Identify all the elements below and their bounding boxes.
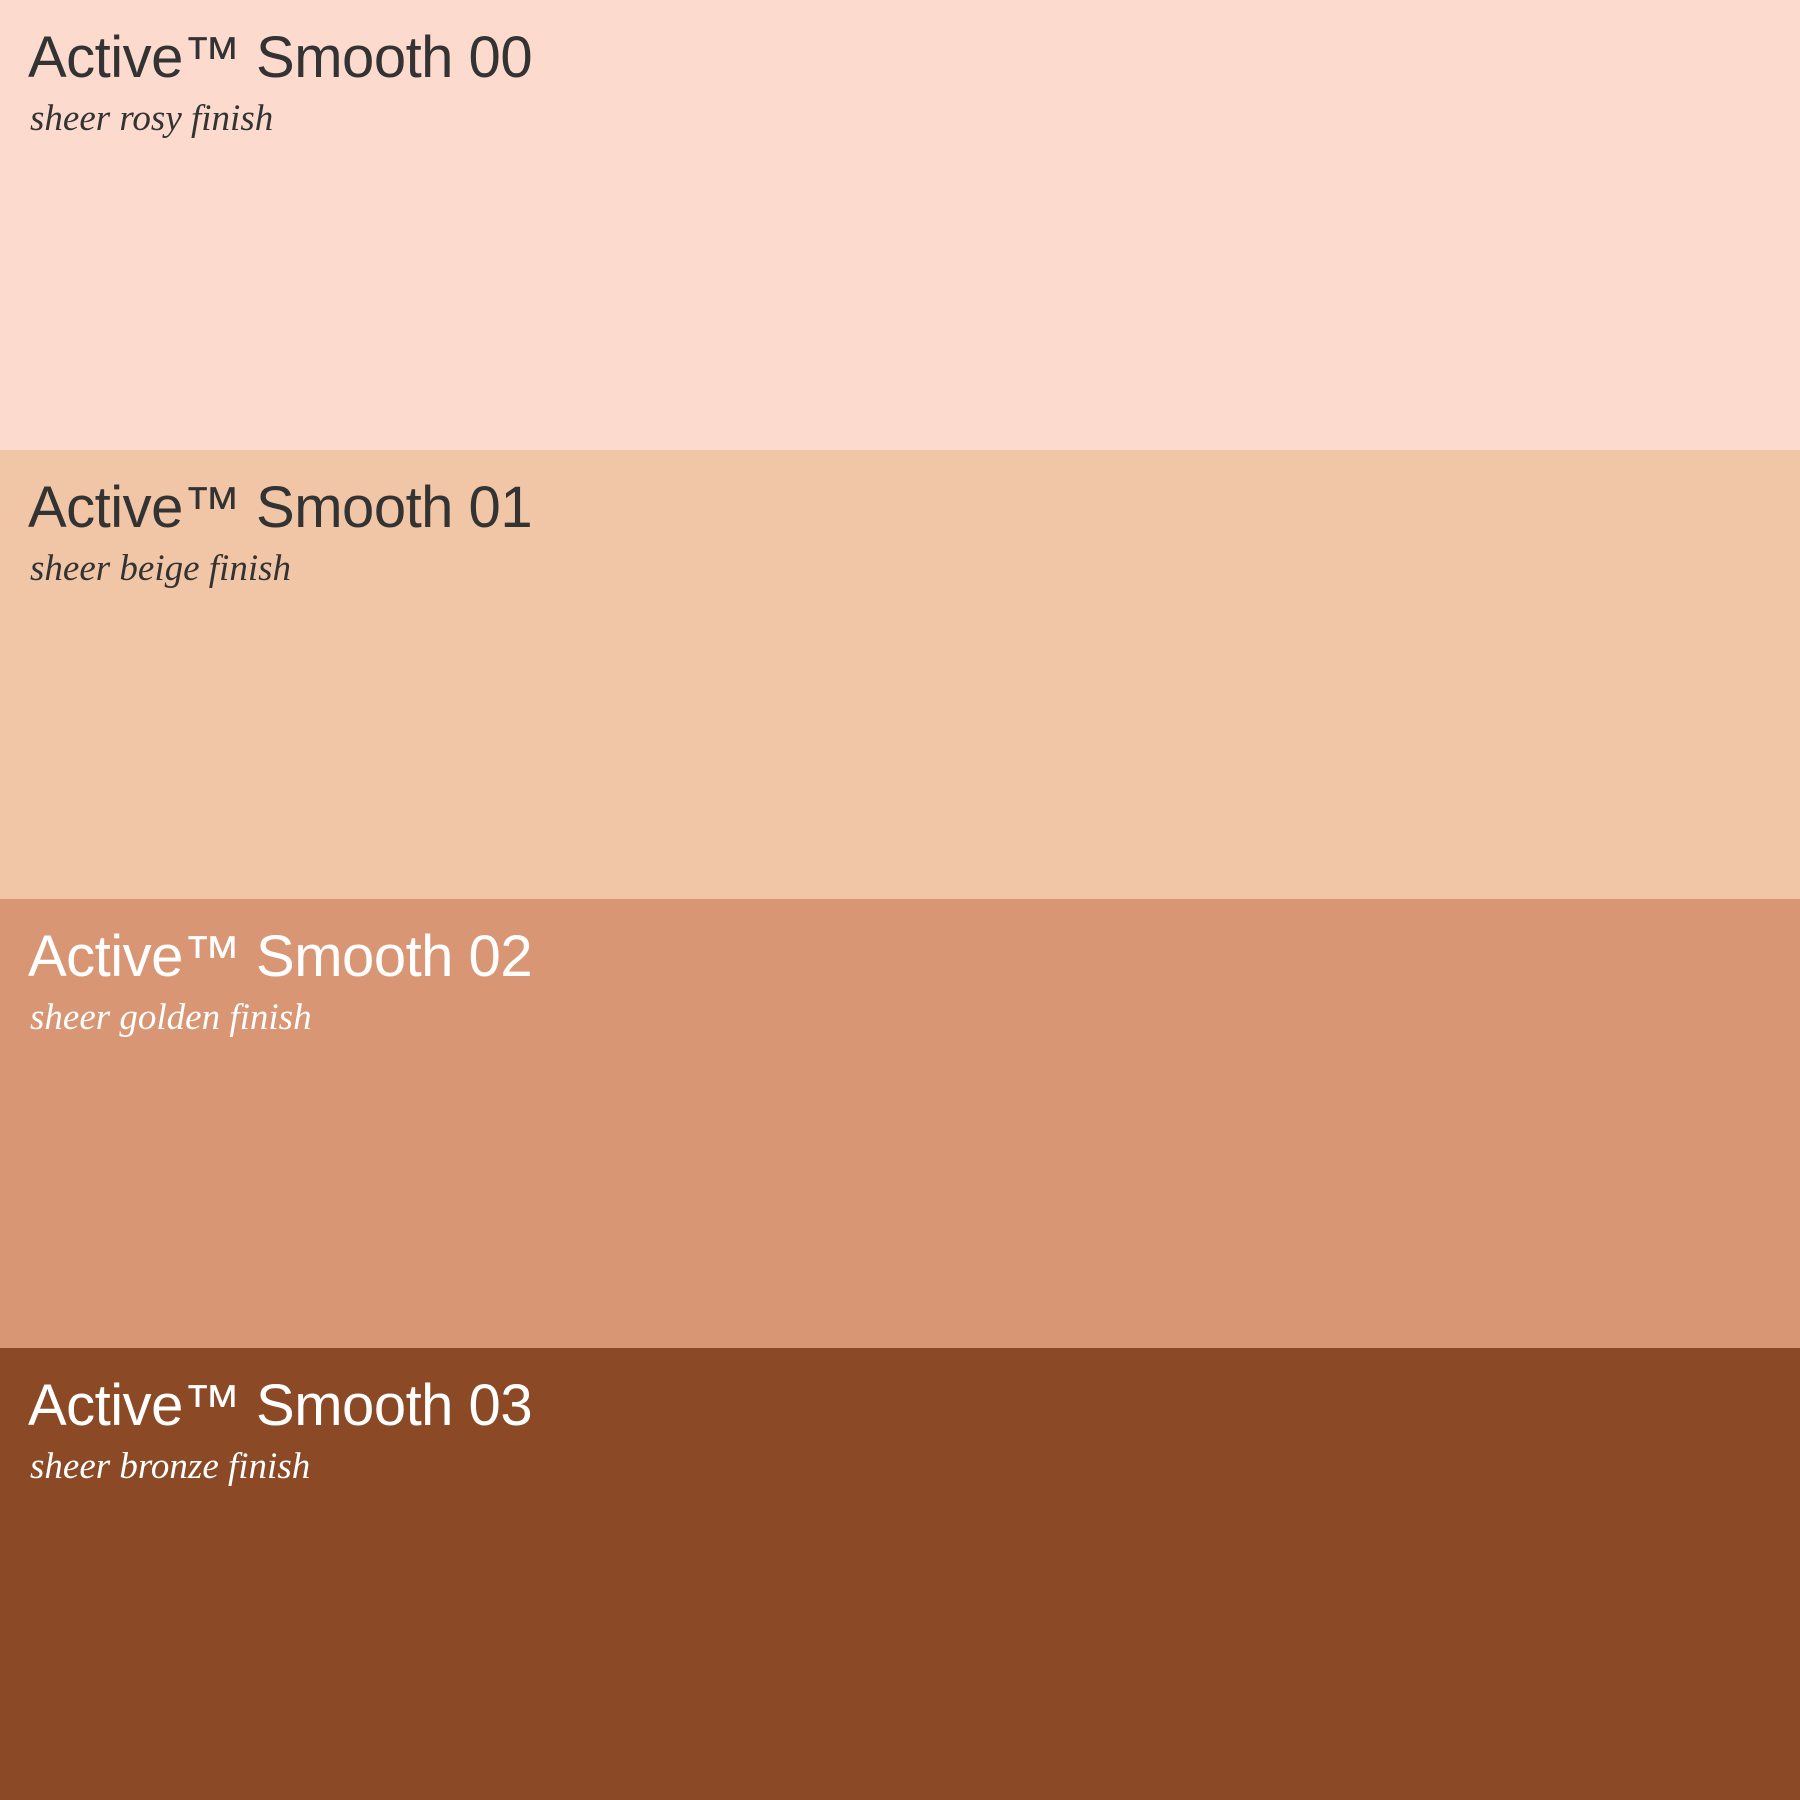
- swatch-band-01[interactable]: Active™ Smooth 01 sheer beige finish: [0, 450, 1800, 899]
- swatch-subtitle: sheer rosy finish: [30, 96, 532, 142]
- swatch-title: Active™ Smooth 00: [28, 24, 532, 92]
- swatch-label-group: Active™ Smooth 01 sheer beige finish: [28, 474, 532, 593]
- swatch-subtitle: sheer golden finish: [30, 995, 532, 1041]
- swatch-label-group: Active™ Smooth 00 sheer rosy finish: [28, 24, 532, 143]
- swatch-title: Active™ Smooth 01: [28, 474, 532, 542]
- swatch-subtitle: sheer beige finish: [30, 546, 532, 592]
- swatch-label-group: Active™ Smooth 02 sheer golden finish: [28, 923, 532, 1042]
- swatch-stack: Active™ Smooth 00 sheer rosy finish Acti…: [0, 0, 1800, 1800]
- swatch-subtitle: sheer bronze finish: [30, 1444, 532, 1490]
- swatch-band-02[interactable]: Active™ Smooth 02 sheer golden finish: [0, 899, 1800, 1348]
- swatch-title: Active™ Smooth 02: [28, 923, 532, 991]
- swatch-band-03[interactable]: Active™ Smooth 03 sheer bronze finish: [0, 1348, 1800, 1800]
- swatch-band-00[interactable]: Active™ Smooth 00 sheer rosy finish: [0, 0, 1800, 450]
- swatch-label-group: Active™ Smooth 03 sheer bronze finish: [28, 1372, 532, 1491]
- swatch-title: Active™ Smooth 03: [28, 1372, 532, 1440]
